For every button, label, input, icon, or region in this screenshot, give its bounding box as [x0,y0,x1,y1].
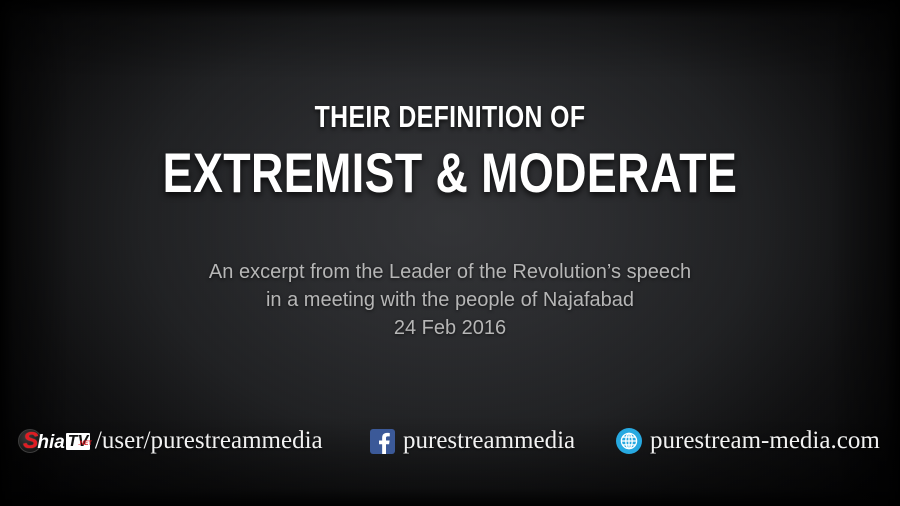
shiatv-letter-s: S [23,430,38,450]
shiatv-letters-hia: hia [37,433,64,453]
footer-link-facebook[interactable]: purestreammedia [370,420,575,462]
subtitle-line-1: An excerpt from the Leader of the Revolu… [0,258,900,286]
shiatv-logo-icon: S hia TV .NET [18,428,92,454]
footer-social-bar: S hia TV .NET /user/purestreammedia pure… [0,420,900,462]
footer-link-website[interactable]: purestream-media.com [616,420,880,462]
facebook-handle-label: purestreammedia [403,427,575,455]
footer-link-shiatv[interactable]: S hia TV .NET /user/purestreammedia [18,420,323,462]
facebook-icon [370,429,395,454]
title-line-2: EXTREMIST & MODERATE [90,142,810,204]
subtitle-line-3: 24 Feb 2016 [0,314,900,342]
subtitle-block: An excerpt from the Leader of the Revolu… [0,258,900,342]
title-block: THEIR DEFINITION OF EXTREMIST & MODERATE [0,100,900,204]
shiatv-url-label: /user/purestreammedia [95,427,323,455]
shiatv-net-suffix: .NET [78,434,92,454]
shiatv-wordmark: S hia TV .NET [18,430,92,453]
title-line-1: THEIR DEFINITION OF [90,100,810,134]
subtitle-line-2: in a meeting with the people of Najafaba… [0,286,900,314]
globe-icon [616,428,642,454]
website-url-label: purestream-media.com [650,427,880,455]
slide-content: THEIR DEFINITION OF EXTREMIST & MODERATE… [0,0,900,506]
title-slide: THEIR DEFINITION OF EXTREMIST & MODERATE… [0,0,900,506]
